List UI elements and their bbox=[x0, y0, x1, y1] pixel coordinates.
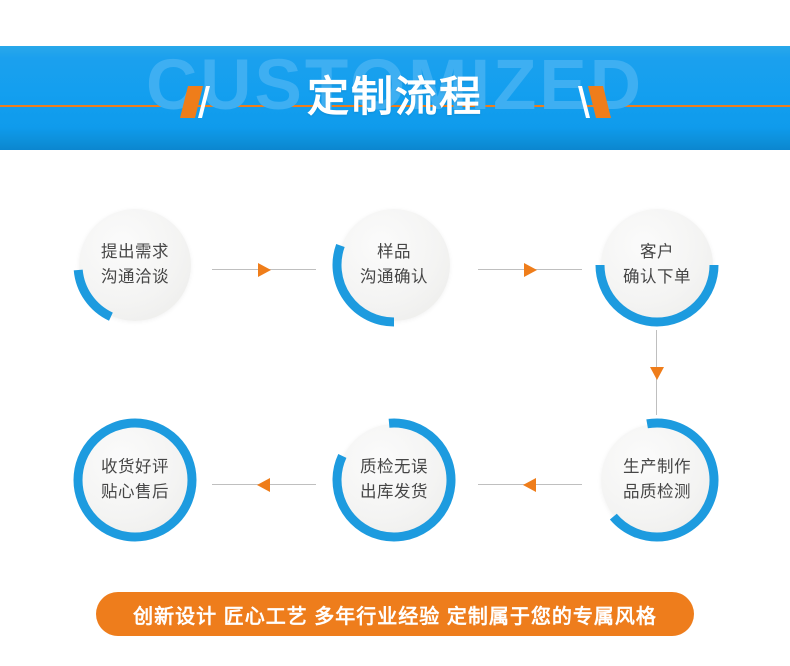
flow-step-line1: 提出需求 bbox=[101, 240, 169, 265]
connector-step5-to-step6 bbox=[212, 478, 316, 492]
arrow-right-icon bbox=[524, 263, 537, 277]
flow-step-label: 样品 沟通确认 bbox=[329, 200, 459, 330]
connector-step2-to-step3 bbox=[478, 263, 582, 277]
arrow-right-icon bbox=[258, 263, 271, 277]
flow-step-line1: 质检无误 bbox=[360, 455, 428, 480]
arrow-left-icon bbox=[523, 478, 536, 492]
page-title: 定制流程 bbox=[0, 72, 790, 122]
flow-step-4[interactable]: 生产制作 品质检测 bbox=[592, 415, 722, 545]
flow-step-2[interactable]: 样品 沟通确认 bbox=[329, 200, 459, 330]
flow-step-line1: 生产制作 bbox=[623, 455, 691, 480]
footer-slogan-banner: 创新设计 匠心工艺 多年行业经验 定制属于您的专属风格 bbox=[96, 592, 694, 636]
process-flow-diagram: 提出需求 沟通洽谈 样品 沟通确认 客户 确认下单 生产制作 品质检测 bbox=[0, 150, 790, 580]
flow-step-3[interactable]: 客户 确认下单 bbox=[592, 200, 722, 330]
connector-step4-to-step5 bbox=[478, 478, 582, 492]
flow-step-1[interactable]: 提出需求 沟通洽谈 bbox=[70, 200, 200, 330]
flow-step-5[interactable]: 质检无误 出库发货 bbox=[329, 415, 459, 545]
flow-step-label: 提出需求 沟通洽谈 bbox=[70, 200, 200, 330]
connector-step3-to-step4 bbox=[650, 330, 664, 415]
flow-step-line2: 沟通确认 bbox=[360, 265, 428, 290]
flow-step-label: 客户 确认下单 bbox=[592, 200, 722, 330]
flow-step-line1: 样品 bbox=[377, 240, 411, 265]
flow-step-label: 收货好评 贴心售后 bbox=[70, 415, 200, 545]
flow-step-line2: 沟通洽谈 bbox=[101, 265, 169, 290]
header-banner: CUSTOMIZED 定制流程 bbox=[0, 46, 790, 150]
arrow-down-icon bbox=[650, 367, 664, 380]
flow-step-line1: 客户 bbox=[640, 240, 674, 265]
flow-step-line2: 品质检测 bbox=[623, 480, 691, 505]
flow-step-line2: 出库发货 bbox=[360, 480, 428, 505]
flow-step-label: 质检无误 出库发货 bbox=[329, 415, 459, 545]
flow-step-6[interactable]: 收货好评 贴心售后 bbox=[70, 415, 200, 545]
flow-step-line1: 收货好评 bbox=[101, 455, 169, 480]
connector-step1-to-step2 bbox=[212, 263, 316, 277]
arrow-left-icon bbox=[257, 478, 270, 492]
flow-step-line2: 确认下单 bbox=[623, 265, 691, 290]
flow-step-line2: 贴心售后 bbox=[101, 480, 169, 505]
footer-slogan-text: 创新设计 匠心工艺 多年行业经验 定制属于您的专属风格 bbox=[133, 600, 657, 629]
flow-step-label: 生产制作 品质检测 bbox=[592, 415, 722, 545]
